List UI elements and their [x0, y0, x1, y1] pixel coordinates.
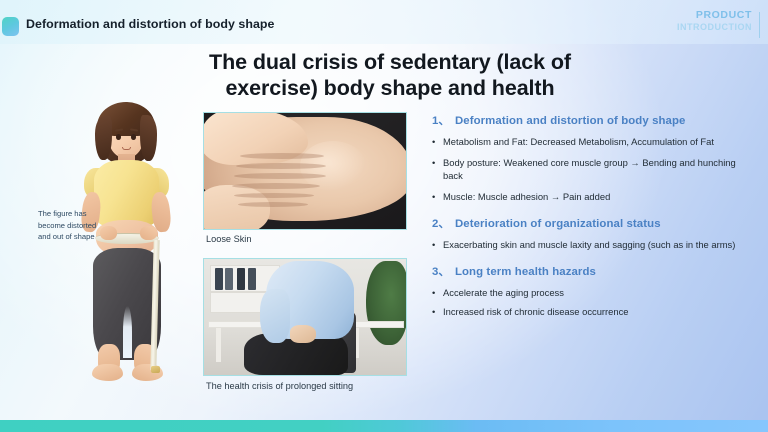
- bullet-marker-icon: •: [432, 286, 443, 300]
- photo-prolonged-sitting: [203, 258, 407, 376]
- section-3-bullet-2: • Increased risk of chronic disease occu…: [432, 305, 752, 319]
- figure-eye-right: [131, 134, 136, 140]
- brand-line-1: PRODUCT: [677, 10, 752, 22]
- body-figure-illustration: [62, 100, 194, 400]
- bullet-marker-icon: •: [432, 190, 443, 204]
- section-1-bullet-3-text: Muscle: Muscle adhesion → Pain added: [443, 190, 752, 204]
- section-3-heading-text: Long term health hazards: [455, 266, 596, 278]
- section-1-bullet-2: • Body posture: Weakened core muscle gro…: [432, 156, 752, 183]
- brand-mark: PRODUCT INTRODUCTION: [677, 10, 752, 32]
- header-bar: Deformation and distortion of body shape…: [0, 0, 768, 44]
- section-1-heading: 1、Deformation and distortion of body sha…: [432, 112, 752, 128]
- section-2-heading: 2、Deterioration of organizational status: [432, 215, 752, 231]
- section-3-bullet-1: • Accelerate the aging process: [432, 286, 752, 300]
- section-3-number: 3、: [432, 266, 450, 278]
- section-1: 1、Deformation and distortion of body sha…: [432, 112, 752, 204]
- figure-annotation: The figure has become distorted and out …: [38, 208, 100, 243]
- skin-wrinkle: [238, 202, 308, 207]
- photo-loose-skin-image: [204, 113, 406, 229]
- photo-loose-skin: [203, 112, 407, 230]
- section-3-heading: 3、Long term health hazards: [432, 263, 752, 279]
- person-hand-on-back: [290, 325, 316, 343]
- skin-wrinkle: [232, 183, 320, 189]
- section-1-heading-text: Deformation and distortion of body shape: [455, 115, 686, 127]
- figure-hand-right: [140, 226, 157, 240]
- section-1-bullet-1: • Metabolism and Fat: Decreased Metaboli…: [432, 135, 752, 149]
- office-book: [215, 268, 223, 290]
- section-3-bullet-1-text: Accelerate the aging process: [443, 286, 752, 300]
- skin-wrinkle: [234, 193, 314, 198]
- header-accent-square-icon: [2, 17, 19, 36]
- figure-leg-gap: [123, 306, 132, 358]
- section-3-bullet-2-text: Increased risk of chronic disease occurr…: [443, 305, 752, 319]
- section-2-heading-text: Deterioration of organizational status: [455, 218, 661, 230]
- figure-hair-left: [95, 116, 112, 160]
- figure-hand-left: [100, 226, 117, 240]
- skin-wrinkle: [234, 173, 326, 179]
- skin-wrinkle: [236, 163, 326, 169]
- section-1-bullet-3: • Muscle: Muscle adhesion → Pain added: [432, 190, 752, 204]
- office-book: [225, 268, 233, 290]
- brand-divider: [759, 12, 760, 38]
- section-2-bullet-1: • Exacerbating skin and muscle laxity an…: [432, 238, 752, 252]
- section-2-number: 2、: [432, 218, 450, 230]
- photo-caption-loose-skin: Loose Skin: [206, 234, 251, 244]
- figure-eye-left: [116, 134, 121, 140]
- skin-photo-hand-bottom: [204, 185, 270, 229]
- figure-shirt: [94, 160, 159, 228]
- bullet-marker-icon: •: [432, 135, 443, 149]
- page-title: The dual crisis of sedentary (lack of ex…: [172, 50, 608, 102]
- skin-wrinkle: [240, 153, 324, 159]
- bullet-marker-icon: •: [432, 305, 443, 319]
- section-1-bullet-2-text: Body posture: Weakened core muscle group…: [443, 156, 752, 183]
- brand-line-2: INTRODUCTION: [677, 22, 752, 32]
- bullet-marker-icon: •: [432, 156, 443, 183]
- tape-measure-tip-icon: [151, 366, 160, 373]
- section-2: 2、Deterioration of organizational status…: [432, 215, 752, 252]
- slide-canvas: Deformation and distortion of body shape…: [0, 0, 768, 432]
- figure-hair-right: [140, 115, 157, 161]
- section-2-bullet-1-text: Exacerbating skin and muscle laxity and …: [443, 238, 752, 252]
- bullet-marker-icon: •: [432, 238, 443, 252]
- header-title: Deformation and distortion of body shape: [26, 17, 274, 31]
- photo-caption-prolonged-sitting: The health crisis of prolonged sitting: [206, 381, 353, 391]
- figure-foot-left: [92, 364, 123, 381]
- office-desk-leg: [216, 328, 221, 362]
- section-1-number: 1、: [432, 115, 450, 127]
- section-1-bullet-1-text: Metabolism and Fat: Decreased Metabolism…: [443, 135, 752, 149]
- photo-prolonged-sitting-image: [204, 259, 406, 375]
- office-book: [237, 268, 245, 290]
- person-arm: [260, 289, 290, 343]
- office-book: [248, 268, 256, 290]
- bottom-accent-bar: [0, 420, 768, 432]
- content-column: 1、Deformation and distortion of body sha…: [432, 112, 752, 330]
- section-3: 3、Long term health hazards • Accelerate …: [432, 263, 752, 319]
- office-plant: [366, 261, 406, 345]
